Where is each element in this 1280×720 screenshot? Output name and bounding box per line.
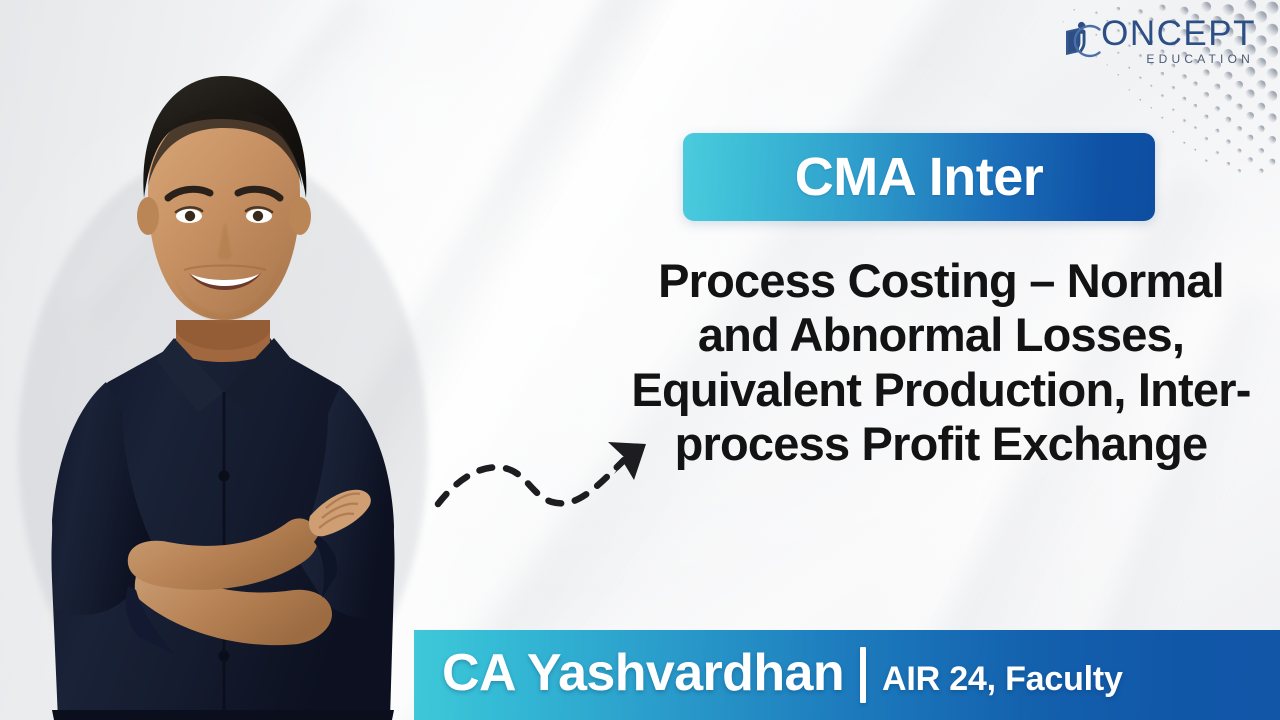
faculty-divider: [860, 647, 866, 703]
brand-logo-subtitle: EDUCATION: [1146, 53, 1254, 65]
course-badge-label: CMA Inter: [795, 150, 1044, 204]
page-title: Process Costing – Normal and Abnormal Lo…: [616, 254, 1266, 471]
presenter-photo: [0, 20, 458, 720]
video-thumbnail: ONCEPT EDUCATION: [0, 0, 1280, 720]
faculty-credential: AIR 24, Faculty: [882, 662, 1123, 696]
concept-education-person-book-icon: [1056, 18, 1102, 64]
brand-logo: ONCEPT EDUCATION: [1056, 16, 1256, 65]
brand-logo-text: ONCEPT EDUCATION: [1101, 16, 1256, 65]
brand-logo-word: ONCEPT: [1101, 16, 1256, 51]
faculty-banner-content: CA Yashvardhan AIR 24, Faculty: [414, 647, 1123, 703]
dashed-curved-arrow-icon: [428, 412, 688, 532]
faculty-banner: CA Yashvardhan AIR 24, Faculty: [414, 630, 1280, 720]
faculty-name: CA Yashvardhan: [442, 647, 844, 699]
course-badge: CMA Inter: [683, 133, 1155, 221]
